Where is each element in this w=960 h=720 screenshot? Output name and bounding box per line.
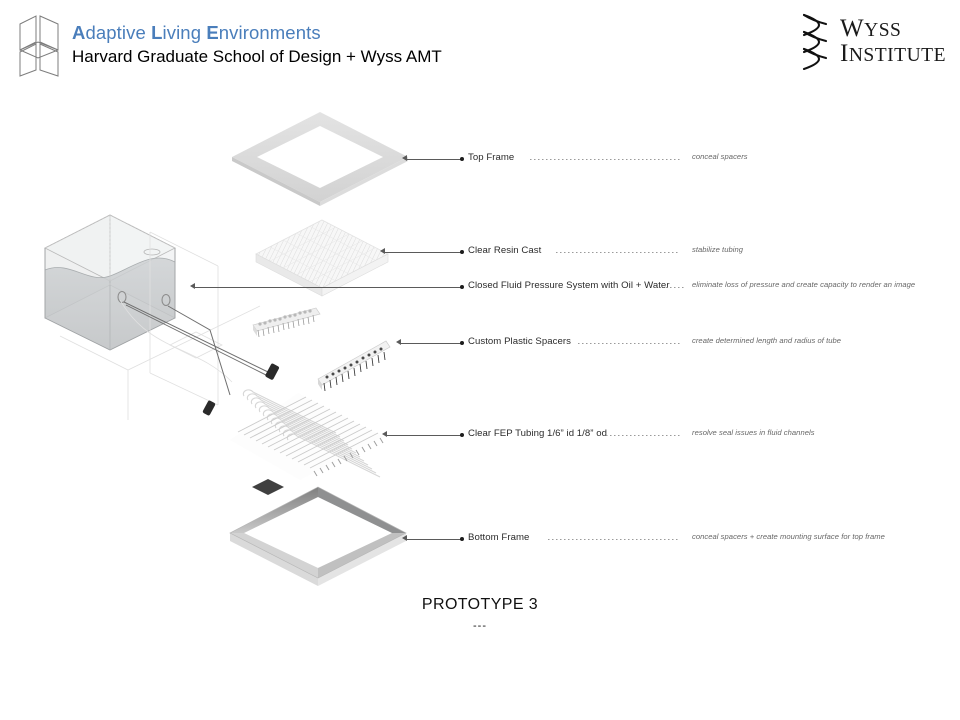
annotation-label: Custom Plastic Spacers [468, 336, 571, 347]
tube-fitting-c [252, 479, 284, 495]
annotation-label: Top Frame [468, 152, 514, 163]
leader-line [407, 539, 462, 540]
annotation-label: Closed Fluid Pressure System with Oil + … [468, 280, 670, 291]
tube-fitting-a [265, 363, 280, 380]
leader-dot [460, 157, 464, 161]
part-tubing-array [230, 390, 384, 480]
annotation-description: resolve seal issues in fluid channels [692, 428, 815, 437]
caption-divider: --- [0, 620, 960, 632]
part-bottom-frame [230, 487, 406, 586]
project-subtitle: Harvard Graduate School of Design + Wyss… [72, 46, 442, 68]
dotted-leader [530, 159, 680, 160]
leader-line [195, 287, 462, 288]
construction-lines [60, 232, 260, 420]
annotation-description: eliminate loss of pressure and create ca… [692, 280, 915, 289]
dna-helix-icon [798, 12, 832, 70]
part-plastic-spacer-lower [318, 341, 390, 391]
annotation-description: conceal spacers + create mounting surfac… [692, 532, 885, 541]
leader-line [385, 252, 462, 253]
leader-dot [460, 433, 464, 437]
annotation-description: create determined length and radius of t… [692, 336, 841, 345]
lattice-mark-icon [10, 12, 68, 78]
part-top-frame [232, 112, 408, 206]
dotted-leader [556, 252, 680, 253]
project-title: Adaptive Living Environments [72, 22, 442, 44]
wyss-wordmark: WYSS INSTITUTE [840, 16, 946, 67]
dotted-leader [578, 343, 680, 344]
annotation-label: Clear Resin Cast [468, 245, 541, 256]
leader-line [407, 159, 462, 160]
wyss-line-2: INSTITUTE [840, 41, 946, 67]
annotation-label: Clear FEP Tubing 1/6” id 1/8” od [468, 428, 607, 439]
annotation-label: Bottom Frame [468, 532, 529, 543]
wyss-line-1: WYSS [840, 16, 946, 42]
dotted-leader [548, 539, 680, 540]
dotted-leader [666, 287, 686, 288]
leader-line [401, 343, 462, 344]
leader-dot [460, 537, 464, 541]
wyss-institute-logo: WYSS INSTITUTE [798, 10, 946, 72]
part-plastic-spacer-upper [253, 308, 320, 337]
tube-fitting-b [202, 400, 216, 416]
leader-dot [460, 341, 464, 345]
dotted-leader [606, 435, 680, 436]
leader-line [387, 435, 462, 436]
annotation-description: stabilize tubing [692, 245, 743, 254]
slide-caption: PROTOTYPE 3 --- [0, 596, 960, 632]
fluid-tube-runs [124, 302, 268, 395]
annotation-description: conceal spacers [692, 152, 748, 161]
leader-dot [460, 250, 464, 254]
title-block: Adaptive Living Environments Harvard Gra… [72, 22, 442, 68]
part-clear-resin-cast [256, 220, 388, 296]
slide-canvas: Adaptive Living Environments Harvard Gra… [0, 0, 960, 720]
part-fluid-reservoir [45, 215, 175, 350]
slide-header: Adaptive Living Environments Harvard Gra… [0, 0, 960, 92]
leader-dot [460, 285, 464, 289]
caption-title: PROTOTYPE 3 [0, 596, 960, 614]
